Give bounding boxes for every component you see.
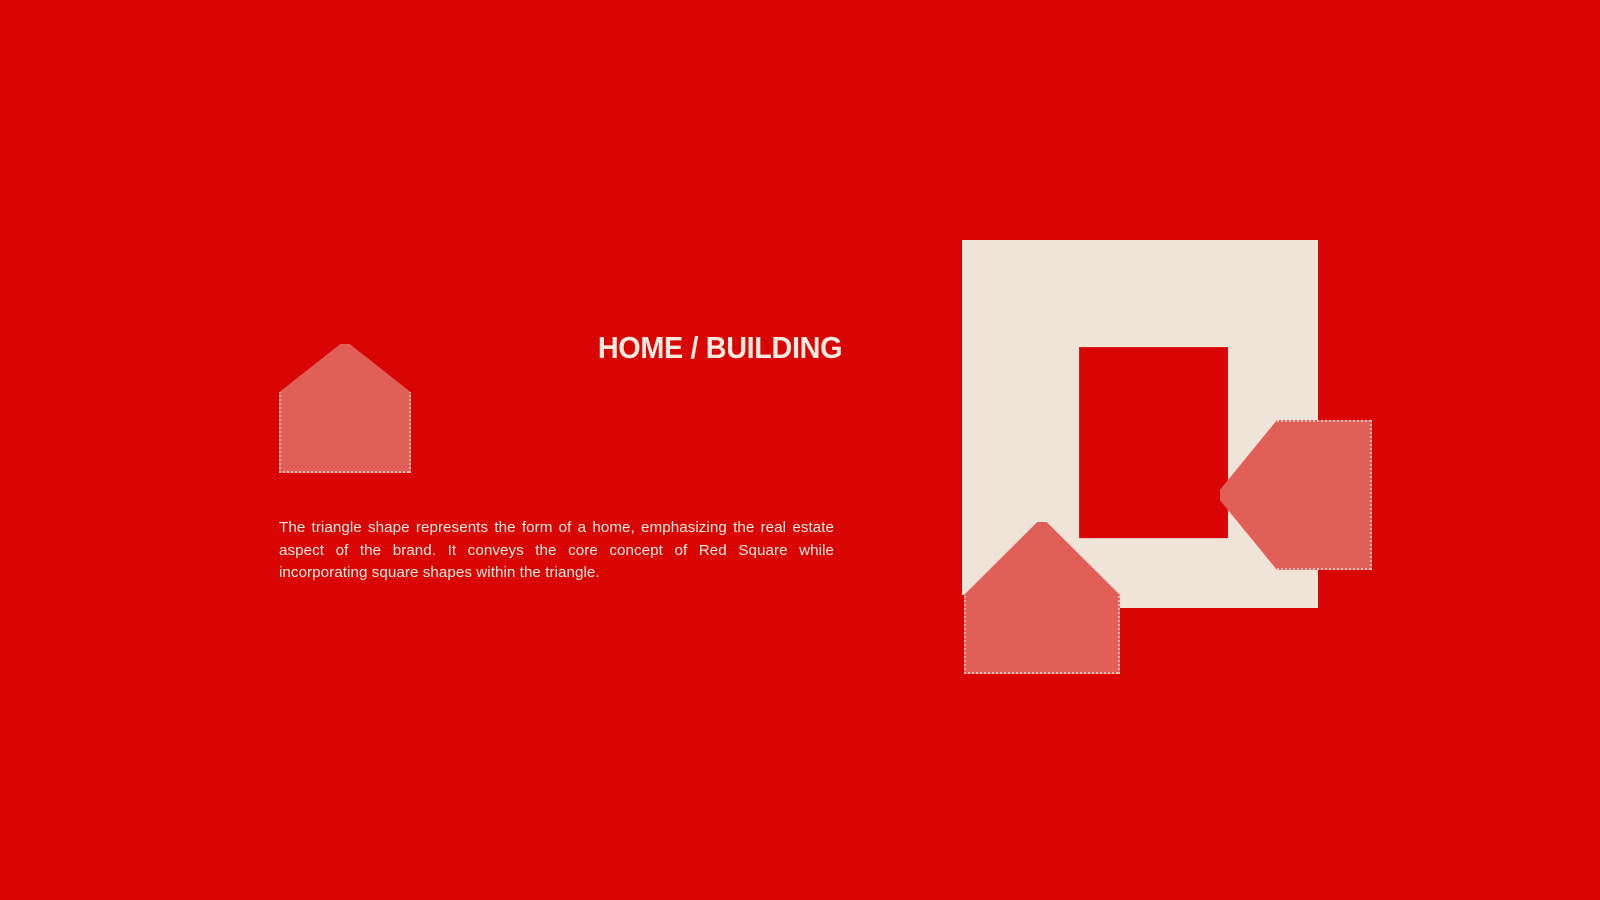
red-square-logo-mark bbox=[930, 220, 1490, 700]
marquee-edge-right bbox=[1370, 420, 1372, 570]
marquee-edge-left bbox=[964, 595, 966, 674]
description-paragraph: The triangle shape represents the form o… bbox=[279, 517, 834, 585]
selection-marquee bbox=[279, 344, 411, 473]
marquee-edge-bottom bbox=[279, 471, 411, 473]
marquee-edge-left bbox=[279, 392, 281, 473]
marquee-edge-bottom bbox=[964, 672, 1120, 674]
marquee-edge-top bbox=[1277, 420, 1372, 422]
page-title: HOME / BUILDING bbox=[534, 332, 906, 363]
marquee-edge-right bbox=[1118, 595, 1120, 674]
slide-canvas: HOME / BUILDING The triangle shape repre… bbox=[0, 0, 1600, 900]
marquee-edge-right bbox=[409, 392, 411, 473]
house-pentagon-icon bbox=[279, 344, 411, 473]
marquee-edge-bottom bbox=[1277, 568, 1372, 570]
